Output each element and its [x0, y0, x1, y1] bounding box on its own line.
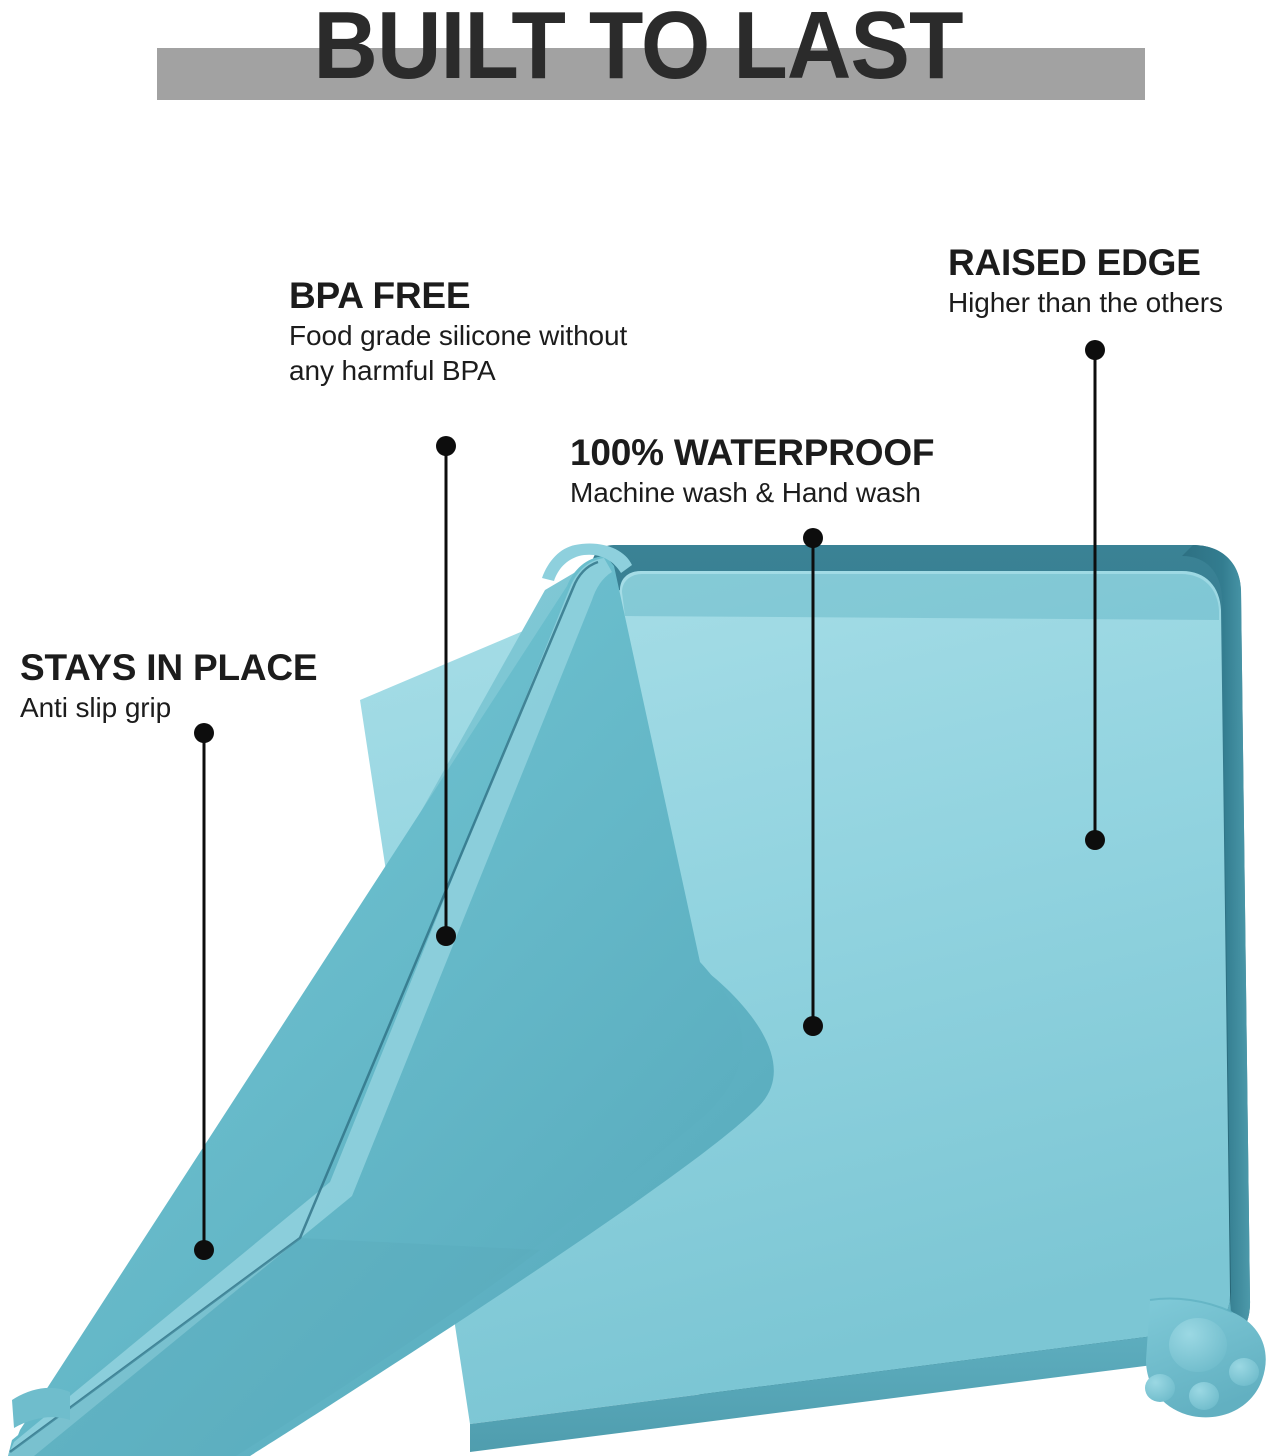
callout-subtitle-line1-raised-edge: Higher than the others [948, 287, 1223, 318]
callout-subtitle-raised-edge: Higher than the others [948, 285, 1223, 320]
product-illustration [0, 0, 1276, 1456]
callout-subtitle-line1-stays-in-place: Anti slip grip [20, 692, 171, 723]
callout-title-waterproof: 100% WATERPROOF [570, 431, 934, 475]
callout-subtitle-line1-bpa-free: Food grade silicone without [289, 320, 627, 351]
callout-subtitle-line1-waterproof: Machine wash & Hand wash [570, 477, 921, 508]
callout-bpa-free: BPA FREE Food grade silicone without any… [289, 274, 627, 388]
callout-title-bpa-free: BPA FREE [289, 274, 627, 318]
infographic-canvas: BUILT TO LAST [0, 0, 1276, 1456]
callout-subtitle-stays-in-place: Anti slip grip [20, 690, 317, 725]
callout-stays-in-place: STAYS IN PLACE Anti slip grip [20, 646, 317, 725]
callout-subtitle-waterproof: Machine wash & Hand wash [570, 475, 934, 510]
callout-raised-edge: RAISED EDGE Higher than the others [948, 241, 1223, 320]
callout-title-stays-in-place: STAYS IN PLACE [20, 646, 317, 690]
callout-subtitle-line2-bpa-free: any harmful BPA [289, 353, 627, 388]
callout-title-raised-edge: RAISED EDGE [948, 241, 1223, 285]
callout-subtitle-bpa-free: Food grade silicone without any harmful … [289, 318, 627, 388]
callout-waterproof: 100% WATERPROOF Machine wash & Hand wash [570, 431, 934, 510]
